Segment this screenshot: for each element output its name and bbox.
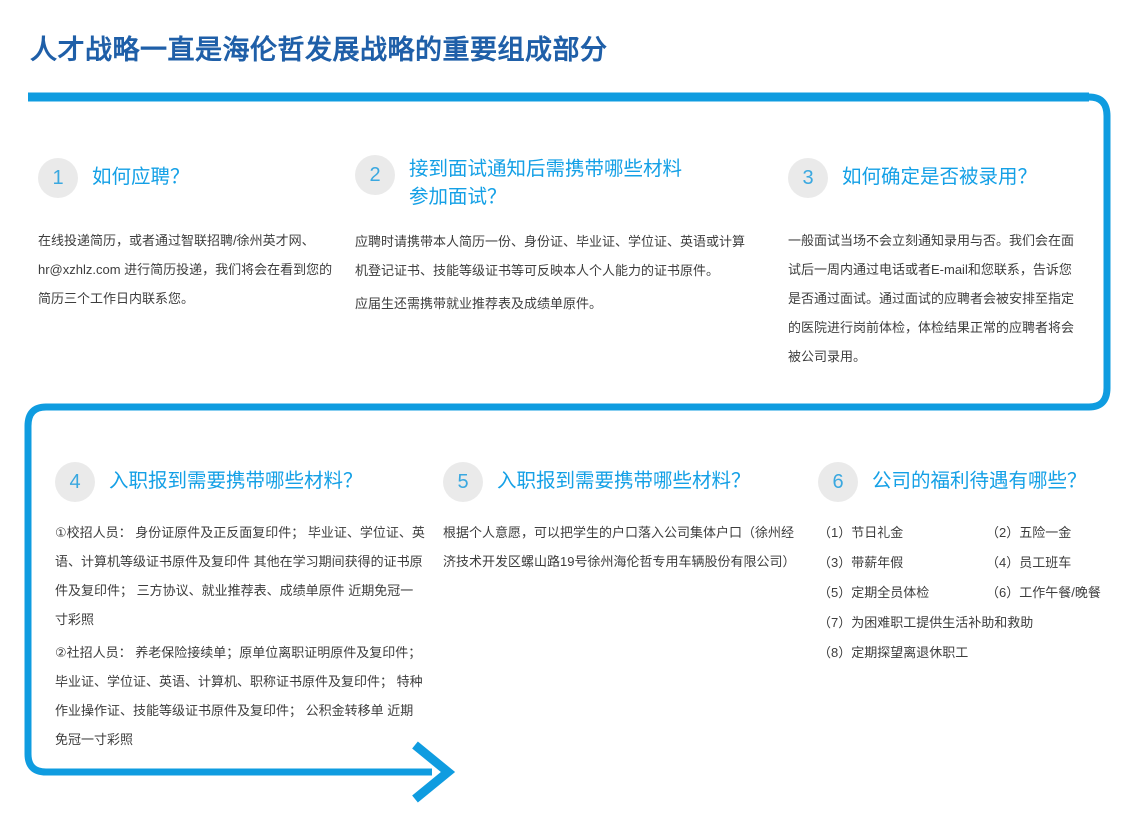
benefit-item: （2）五险一金 (986, 518, 1127, 548)
benefit-item: （1）节日礼金 (818, 518, 986, 548)
section-paragraph: 根据个人意愿，可以把学生的户口落入公司集体户口（徐州经济技术开发区螺山路19号徐… (443, 518, 803, 576)
benefit-item: （6）工作午餐/晚餐 (986, 578, 1127, 608)
section-number-badge-1: 1 (38, 158, 78, 198)
section-paragraph: ①校招人员： 身份证原件及正反面复印件； 毕业证、学位证、英语、计算机等级证书原… (55, 518, 425, 634)
section-header-1: 1 如何应聘？ (38, 158, 338, 198)
section-title-4: 入职报到需要携带哪些材料？ (109, 462, 363, 495)
section-body-4: ①校招人员： 身份证原件及正反面复印件； 毕业证、学位证、英语、计算机等级证书原… (55, 518, 425, 754)
section-header-3: 3 如何确定是否被录用？ (788, 158, 1078, 198)
section-card-5: 5 入职报到需要携带哪些材料？ 根据个人意愿，可以把学生的户口落入公司集体户口（… (443, 462, 803, 576)
section-header-5: 5 入职报到需要携带哪些材料？ (443, 462, 803, 502)
section-body-3: 一般面试当场不会立刻通知录用与否。我们会在面试后一周内通过电话或者E-mail和… (788, 226, 1078, 371)
section-header-6: 6 公司的福利待遇有哪些？ (818, 462, 1127, 502)
section-card-1: 1 如何应聘？ 在线投递简历，或者通过智联招聘/徐州英才网、 hr@xzhlz.… (38, 158, 338, 313)
benefit-item: （3）带薪年假 (818, 548, 986, 578)
section-title-1: 如何应聘？ (92, 158, 190, 191)
benefit-item: （4）员工班车 (986, 548, 1127, 578)
section-card-6: 6 公司的福利待遇有哪些？ （1）节日礼金 （2）五险一金 （3）带薪年假 （4… (818, 462, 1127, 668)
benefit-item: （8）定期探望离退休职工 (818, 638, 1127, 668)
section-paragraph: 应聘时请携带本人简历一份、身份证、毕业证、学位证、英语或计算机登记证书、技能等级… (355, 227, 745, 285)
section-body-1: 在线投递简历，或者通过智联招聘/徐州英才网、 hr@xzhlz.com 进行简历… (38, 226, 338, 313)
benefits-list: （1）节日礼金 （2）五险一金 （3）带薪年假 （4）员工班车 （5）定期全员体… (818, 518, 1127, 668)
section-paragraph: 在线投递简历，或者通过智联招聘/徐州英才网、 hr@xzhlz.com 进行简历… (38, 226, 338, 313)
section-paragraph: 一般面试当场不会立刻通知录用与否。我们会在面试后一周内通过电话或者E-mail和… (788, 226, 1078, 371)
section-body-5: 根据个人意愿，可以把学生的户口落入公司集体户口（徐州经济技术开发区螺山路19号徐… (443, 518, 803, 576)
section-title-3: 如何确定是否被录用？ (842, 158, 1037, 191)
section-card-2: 2 接到面试通知后需携带哪些材料参加面试？ 应聘时请携带本人简历一份、身份证、毕… (355, 155, 745, 318)
section-body-2: 应聘时请携带本人简历一份、身份证、毕业证、学位证、英语或计算机登记证书、技能等级… (355, 227, 745, 318)
section-header-2: 2 接到面试通知后需携带哪些材料参加面试？ (355, 155, 745, 211)
page-title: 人才战略一直是海伦哲发展战略的重要组成部分 (30, 28, 608, 67)
section-number-badge-4: 4 (55, 462, 95, 502)
section-paragraph: 应届生还需携带就业推荐表及成绩单原件。 (355, 289, 745, 318)
section-title-6: 公司的福利待遇有哪些？ (872, 462, 1087, 495)
section-number-badge-6: 6 (818, 462, 858, 502)
benefit-item: （7）为困难职工提供生活补助和救助 (818, 608, 1127, 638)
section-card-4: 4 入职报到需要携带哪些材料？ ①校招人员： 身份证原件及正反面复印件； 毕业证… (55, 462, 425, 754)
section-paragraph: ②社招人员： 养老保险接续单；原单位离职证明原件及复印件； 毕业证、学位证、英语… (55, 638, 425, 754)
section-number-badge-3: 3 (788, 158, 828, 198)
section-number-badge-2: 2 (355, 155, 395, 195)
section-header-4: 4 入职报到需要携带哪些材料？ (55, 462, 425, 502)
section-card-3: 3 如何确定是否被录用？ 一般面试当场不会立刻通知录用与否。我们会在面试后一周内… (788, 158, 1078, 371)
section-number-badge-5: 5 (443, 462, 483, 502)
benefit-item: （5）定期全员体检 (818, 578, 986, 608)
section-title-2: 接到面试通知后需携带哪些材料参加面试？ (409, 155, 699, 211)
section-title-5: 入职报到需要携带哪些材料？ (497, 462, 751, 495)
